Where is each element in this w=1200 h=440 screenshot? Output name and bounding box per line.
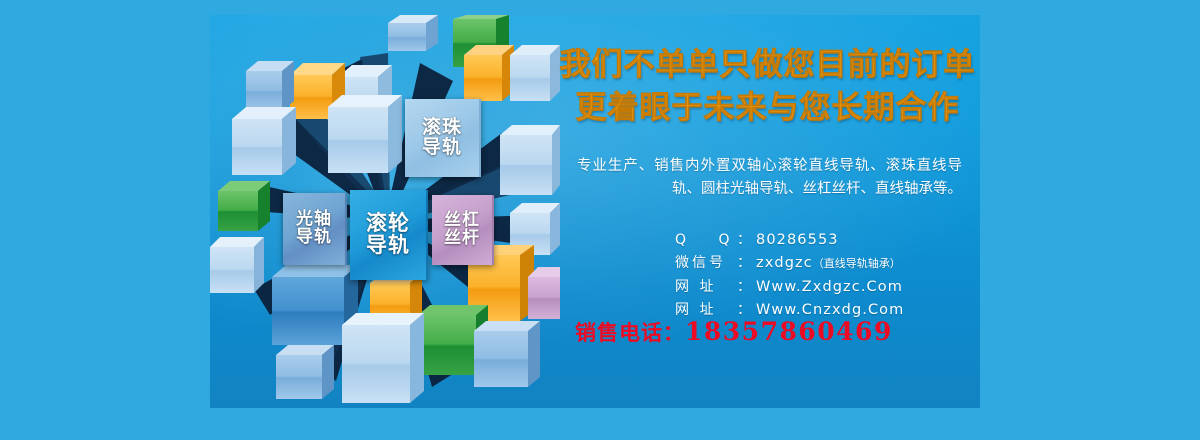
page-root: 滚珠 导轨 光轴 导轨 滚轮 导轨 丝杠 丝杆 我们不单单只做您目前的订单 更着… (0, 0, 1200, 440)
contact-label-website: 网 址 (675, 276, 737, 299)
contact-block: Q Q ： 80286553 微信号 ： zxdgzc （直线导轨轴承） 网 址… (675, 229, 975, 323)
product-label-roller-guide: 滚轮 导轨 (350, 190, 428, 280)
description-text: 专业生产、销售内外置双轴心滚轮直线导轨、滚珠直线导轨、圆柱光轴导轨、丝杠丝杆、直… (577, 155, 962, 202)
product-label-line2: 导轨 (366, 235, 410, 257)
contact-row-website-1: 网 址 ： Www.Zxdgzc.Com (675, 276, 975, 299)
sales-phone: 销售电话：18357860469 (575, 317, 975, 347)
headline-line-2: 更着眼于未来与您长期合作 (555, 88, 980, 129)
product-label-ball-guide: 滚珠 导轨 (405, 99, 481, 177)
headline-line-1: 我们不单单只做您目前的订单 (555, 45, 980, 86)
product-label-line1: 滚轮 (366, 213, 410, 235)
contact-label-qq: Q Q (675, 229, 737, 252)
banner-copy-column: 我们不单单只做您目前的订单 更着眼于未来与您长期合作 专业生产、销售内外置双轴心… (555, 15, 980, 408)
contact-separator: ： (737, 276, 751, 299)
promo-banner: 滚珠 导轨 光轴 导轨 滚轮 导轨 丝杠 丝杆 我们不单单只做您目前的订单 更着… (210, 15, 980, 408)
product-label-shaft-guide: 光轴 导轨 (283, 193, 347, 265)
contact-separator: ： (737, 229, 751, 252)
contact-note-wechat: （直线导轨轴承） (813, 255, 901, 273)
contact-row-wechat: 微信号 ： zxdgzc （直线导轨轴承） (675, 252, 975, 275)
product-label-line2: 导轨 (422, 138, 462, 158)
sales-phone-label: 销售电话： (575, 321, 685, 345)
product-label-line2: 丝杆 (444, 230, 480, 248)
contact-row-qq: Q Q ： 80286553 (675, 229, 975, 252)
contact-value-qq[interactable]: 80286553 (756, 229, 839, 252)
contact-value-website-1[interactable]: Www.Zxdgzc.Com (756, 276, 903, 299)
contact-label-wechat: 微信号 (675, 252, 737, 275)
headline: 我们不单单只做您目前的订单 更着眼于未来与您长期合作 (555, 45, 980, 129)
contact-value-wechat[interactable]: zxdgzc (756, 252, 813, 275)
contact-separator: ： (737, 252, 751, 275)
product-label-line2: 导轨 (296, 229, 332, 247)
product-label-lead-screw: 丝杠 丝杆 (432, 195, 494, 265)
sales-phone-number[interactable]: 18357860469 (685, 317, 893, 346)
